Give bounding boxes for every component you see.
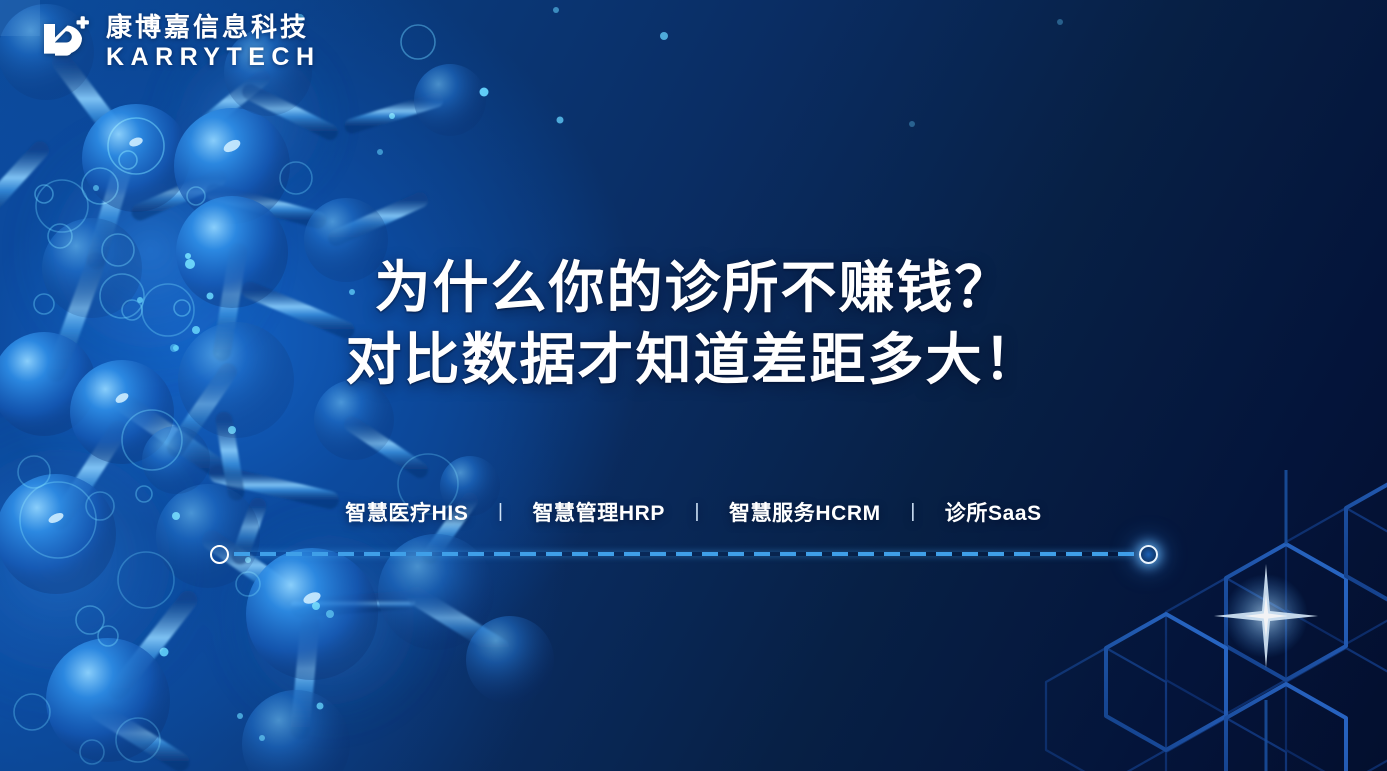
plus-icon (77, 16, 89, 28)
service-tag-saas[interactable]: 诊所SaaS (945, 497, 1042, 527)
brand-name-en: KARRYTECH (106, 45, 321, 70)
service-tag-hrp[interactable]: 智慧管理HRP (532, 497, 665, 527)
decorative-divider (210, 543, 1158, 565)
promo-banner: 康博嘉信息科技 KARRYTECH 为什么你的诊所不赚钱？ 对比数据才知道差距多… (0, 0, 1387, 771)
page-title: 为什么你的诊所不赚钱？ 对比数据才知道差距多大！ (0, 252, 1387, 395)
tag-separator: | (665, 501, 729, 523)
headline-line-2: 对比数据才知道差距多大！ (0, 324, 1387, 396)
service-tag-his[interactable]: 智慧医疗HIS (345, 497, 468, 527)
service-tag-list: 智慧医疗HIS | 智慧管理HRP | 智慧服务HCRM | 诊所SaaS (0, 497, 1387, 527)
brand-name-cn: 康博嘉信息科技 (106, 14, 321, 40)
headline-line-1: 为什么你的诊所不赚钱？ (0, 252, 1387, 324)
circle-outline-node-icon (210, 545, 229, 564)
circle-glow-node-icon (1139, 545, 1158, 564)
karry-k-plus-logo-icon (36, 14, 92, 70)
dashed-line (234, 552, 1134, 556)
brand-logo[interactable]: 康博嘉信息科技 KARRYTECH (36, 14, 321, 70)
brand-logo-text: 康博嘉信息科技 KARRYTECH (106, 14, 321, 70)
sparkle-icon (1214, 564, 1318, 668)
corner-square-icon (0, 0, 40, 36)
tag-separator: | (881, 501, 945, 523)
tag-separator: | (468, 501, 532, 523)
service-tag-hcrm[interactable]: 智慧服务HCRM (729, 497, 881, 527)
